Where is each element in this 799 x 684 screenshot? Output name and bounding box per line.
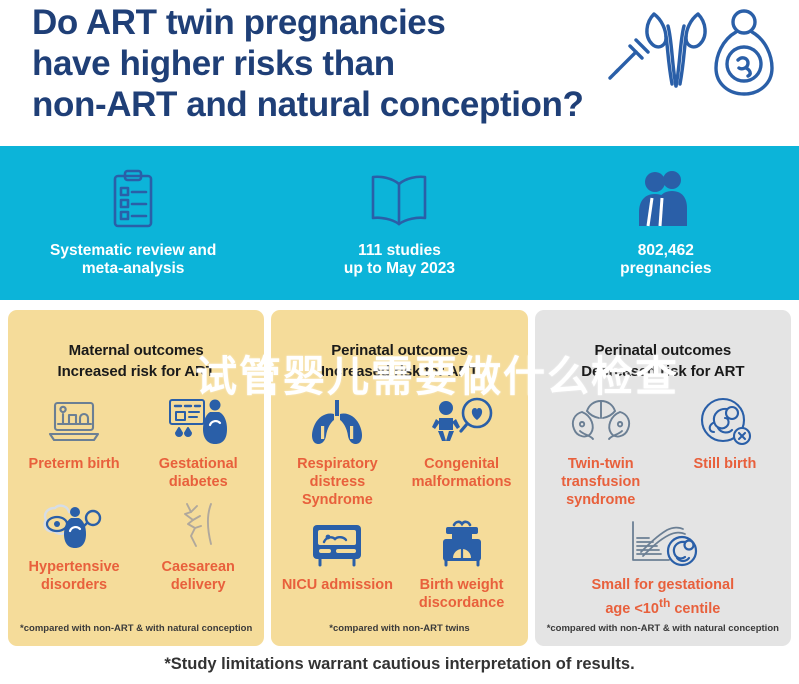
item-label: Hypertensive disorders: [29, 558, 120, 594]
header-icon-group: [596, 6, 792, 100]
card-perinatal-decreased: Perinatal outcomes Decreased risk for AR…: [535, 310, 791, 646]
item-label: Small for gestational age <10th centile: [592, 576, 735, 618]
outcome-cards: Maternal outcomes Increased risk for ART: [8, 310, 791, 646]
item-preterm-birth: Preterm birth: [12, 394, 136, 491]
card-footnote: *compared with non-ART & with natural co…: [535, 623, 791, 634]
item-caesarean-delivery: Caesarean delivery: [136, 497, 260, 594]
stat-label: 802,462 pregnancies: [620, 242, 711, 278]
stat-label: 111 studies up to May 2023: [344, 242, 455, 278]
stat-pregnancies: 802,462 pregnancies: [533, 168, 799, 278]
sga-label-sup: th: [659, 596, 670, 610]
item-gestational-diabetes: Gestational diabetes: [136, 394, 260, 491]
stat-systematic-review: Systematic review and meta-analysis: [0, 168, 266, 278]
card-item-grid: Preterm birth: [8, 382, 264, 646]
title-line-3: non-ART and natural conception?: [32, 84, 592, 125]
card-title: Perinatal outcomes Decreased risk for AR…: [535, 340, 791, 382]
card-footnote: *compared with non-ART & with natural co…: [8, 623, 264, 634]
stat-label: Systematic review and meta-analysis: [50, 242, 216, 278]
item-respiratory-distress-syndrome: Respiratory distress Syndrome: [275, 394, 399, 509]
footer-disclaimer: *Study limitations warrant cautious inte…: [0, 655, 799, 674]
item-label: Twin-twin transfusion syndrome: [561, 455, 640, 509]
header-icons-svg: [596, 6, 792, 100]
blood-pressure-pregnant-woman-icon: [41, 497, 107, 553]
item-label: Birth weight discordance: [419, 576, 504, 612]
item-congenital-malformations: Congenital malformations: [399, 394, 523, 509]
item-birth-weight-discordance: Birth weight discordance: [399, 515, 523, 612]
card-title: Maternal outcomes Increased risk for ART: [8, 340, 264, 382]
card-perinatal-increased: Perinatal outcomes Increased risk for AR…: [271, 310, 527, 646]
item-small-for-gestational-age: Small for gestational age <10th centile: [539, 515, 787, 618]
sga-label-post: centile: [670, 601, 720, 617]
page-title: Do ART twin pregnancies have higher risk…: [32, 2, 592, 125]
pregnant-woman-icon: [716, 11, 772, 94]
header: Do ART twin pregnancies have higher risk…: [0, 0, 799, 145]
uterus-with-syringe-icon: [610, 14, 705, 86]
open-book-icon: [368, 168, 430, 230]
fetus-cross-icon: [697, 394, 753, 450]
item-label: Caesarean delivery: [162, 558, 235, 594]
glucose-monitor-pregnant-woman-icon: [167, 394, 229, 450]
item-hypertensive-disorders: Hypertensive disorders: [12, 497, 136, 594]
caesarean-scar-icon: [173, 497, 223, 553]
item-label: Gestational diabetes: [159, 455, 238, 491]
item-label: Preterm birth: [29, 455, 120, 473]
title-line-1: Do ART twin pregnancies: [32, 2, 592, 43]
twin-fetuses-placenta-icon: [568, 394, 634, 450]
card-maternal-outcomes: Maternal outcomes Increased risk for ART: [8, 310, 264, 646]
incubator-monitor-icon: [47, 394, 101, 450]
clipboard-checklist-icon: [107, 168, 159, 230]
item-label: NICU admission: [282, 576, 393, 594]
item-label: Congenital malformations: [412, 455, 512, 491]
item-label: Still birth: [693, 455, 756, 473]
card-item-grid: Twin-twin transfusion syndrome: [535, 382, 791, 646]
baby-magnifier-heart-icon: [430, 394, 494, 450]
item-still-birth: Still birth: [663, 394, 787, 509]
card-title: Perinatal outcomes Increased risk for AR…: [271, 340, 527, 382]
infographic-root: Do ART twin pregnancies have higher risk…: [0, 0, 799, 684]
card-item-grid: Respiratory distress Syndrome: [271, 382, 527, 646]
baby-weighing-scale-icon: [434, 515, 490, 571]
title-line-2: have higher risks than: [32, 43, 592, 84]
growth-chart-fetus-icon: [625, 515, 701, 571]
two-people-icon: [638, 168, 694, 230]
stats-band: Systematic review and meta-analysis 111 …: [0, 146, 799, 300]
card-footnote: *compared with non-ART twins: [271, 623, 527, 634]
lungs-icon: [307, 394, 367, 450]
item-twin-twin-transfusion-syndrome: Twin-twin transfusion syndrome: [539, 394, 663, 509]
nicu-incubator-icon: [308, 515, 366, 571]
stat-studies: 111 studies up to May 2023: [266, 168, 532, 278]
item-nicu-admission: NICU admission: [275, 515, 399, 612]
item-label: Respiratory distress Syndrome: [275, 455, 399, 509]
